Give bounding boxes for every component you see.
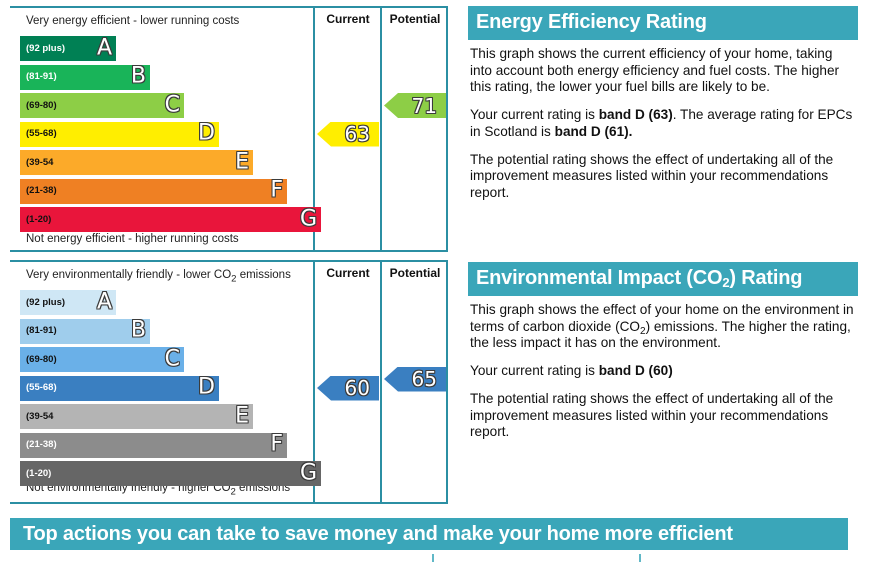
band-range-label: (21-38) [20,186,57,196]
graph-rule-mid [380,260,382,504]
band-letter-e: E [235,405,249,427]
co2-impact-graph: Current Potential Very environmentally f… [10,260,448,504]
band-row-g: (1-20)G [20,207,321,232]
rating-value: 71 [412,96,437,116]
co2-panel-title: Environmental Impact (CO2) Rating [468,262,858,296]
energy-current-prefix: Your current rating is [470,107,599,122]
energy-column-header-current: Current [315,12,381,26]
graph-bottom-rule [10,250,448,252]
band-row-f: (21-38)F [20,433,287,458]
band-range-label: (92 plus) [20,298,65,308]
rating-value: 60 [345,378,370,398]
band-row-e: (39-54E [20,150,253,175]
band-row-c: (69-80)C [20,347,184,372]
band-letter-d: D [198,377,215,399]
energy-efficiency-panel: Energy Efficiency Rating This graph show… [468,6,858,202]
band-range-label: (55-68) [20,383,57,393]
energy-graph-frame: Current Potential Very energy efficient … [10,6,448,252]
band-letter-b: B [131,66,146,88]
energy-caption-bottom: Not energy efficient - higher running co… [26,233,239,245]
co2-impact-panel: Environmental Impact (CO2) Rating This g… [468,262,858,441]
energy-paragraph-1: This graph shows the current efficiency … [470,46,856,96]
graph-bottom-rule [10,502,448,504]
band-row-g: (1-20)G [20,461,321,486]
band-letter-a: A [97,291,112,313]
band-row-b: (81-91)B [20,65,150,90]
top-actions-banner-label: Top actions you can take to save money a… [10,523,733,546]
actions-table-rule-2 [639,554,641,562]
energy-panel-title: Energy Efficiency Rating [468,6,858,40]
energy-average-band-value: band D (61). [555,124,633,139]
band-range-label: (69-80) [20,101,57,111]
co2-band-list: (92 plus)A(81-91)B(69-80)C(55-68)D(39-54… [20,290,322,470]
co2-paragraph-3: The potential rating shows the effect of… [470,391,856,441]
energy-paragraph-2: Your current rating is band D (63). The … [470,107,856,140]
energy-current-band-value: band D (63) [599,107,673,122]
band-range-label: (39-54 [20,412,53,422]
co2-paragraph-2: Your current rating is band D (60) [470,363,856,380]
band-range-label: (1-20) [20,469,51,479]
band-row-b: (81-91)B [20,319,150,344]
energy-current-rating-arrow: 63 [317,122,379,147]
co2-caption-top-pre: Very environmentally friendly - lower CO [26,269,231,281]
band-range-label: (81-91) [20,72,57,82]
epc-rating-page: Current Potential Very energy efficient … [0,0,870,562]
co2-paragraph-1: This graph shows the effect of your home… [470,302,856,352]
energy-paragraph-3: The potential rating shows the effect of… [470,152,856,202]
band-letter-g: G [300,462,317,484]
band-row-c: (69-80)C [20,93,184,118]
band-letter-d: D [198,123,215,145]
co2-title-pre: Environmental Impact (CO [476,267,722,289]
energy-panel-body: This graph shows the current efficiency … [468,40,858,202]
co2-caption-top-post: emissions [237,269,291,281]
graph-top-rule [10,6,448,8]
energy-efficiency-graph: Current Potential Very energy efficient … [10,6,448,252]
graph-rule-right [446,260,448,504]
co2-subscript: 2 [722,275,729,290]
co2-current-rating-arrow: 60 [317,376,379,401]
band-range-label: (69-80) [20,355,57,365]
energy-caption-top: Very energy efficient - lower running co… [26,15,239,27]
band-letter-a: A [97,37,112,59]
band-row-d: (55-68)D [20,122,219,147]
co2-current-prefix: Your current rating is [470,363,599,378]
band-letter-c: C [165,94,180,116]
co2-subscript: 2 [640,326,646,337]
band-letter-g: G [300,208,317,230]
graph-rule-right [446,6,448,252]
rating-value: 63 [345,124,370,144]
co2-column-header-potential: Potential [382,266,448,280]
co2-title-post: ) Rating [729,267,802,289]
graph-rule-mid [380,6,382,252]
co2-column-header-current: Current [315,266,381,280]
band-row-d: (55-68)D [20,376,219,401]
actions-table-rule-1 [432,554,434,562]
band-row-a: (92 plus)A [20,290,116,315]
co2-current-band-value: band D (60) [599,363,673,378]
band-row-a: (92 plus)A [20,36,116,61]
top-actions-banner: Top actions you can take to save money a… [10,518,848,550]
energy-column-header-potential: Potential [382,12,448,26]
band-range-label: (55-68) [20,129,57,139]
band-range-label: (92 plus) [20,44,65,54]
band-letter-e: E [235,151,249,173]
rating-value: 65 [412,369,437,389]
band-range-label: (39-54 [20,158,53,168]
co2-panel-body: This graph shows the effect of your home… [468,296,858,441]
band-range-label: (21-38) [20,440,57,450]
band-letter-f: F [270,434,283,456]
band-letter-f: F [270,180,283,202]
co2-caption-top: Very environmentally friendly - lower CO… [26,269,291,284]
band-row-f: (21-38)F [20,179,287,204]
band-letter-b: B [131,320,146,342]
band-range-label: (1-20) [20,215,51,225]
energy-potential-rating-arrow: 71 [384,93,446,118]
graph-top-rule [10,260,448,262]
co2-graph-frame: Current Potential Very environmentally f… [10,260,448,504]
band-letter-c: C [165,348,180,370]
band-range-label: (81-91) [20,326,57,336]
energy-band-list: (92 plus)A(81-91)B(69-80)C(55-68)D(39-54… [20,36,322,216]
co2-potential-rating-arrow: 65 [384,367,446,392]
band-row-e: (39-54E [20,404,253,429]
